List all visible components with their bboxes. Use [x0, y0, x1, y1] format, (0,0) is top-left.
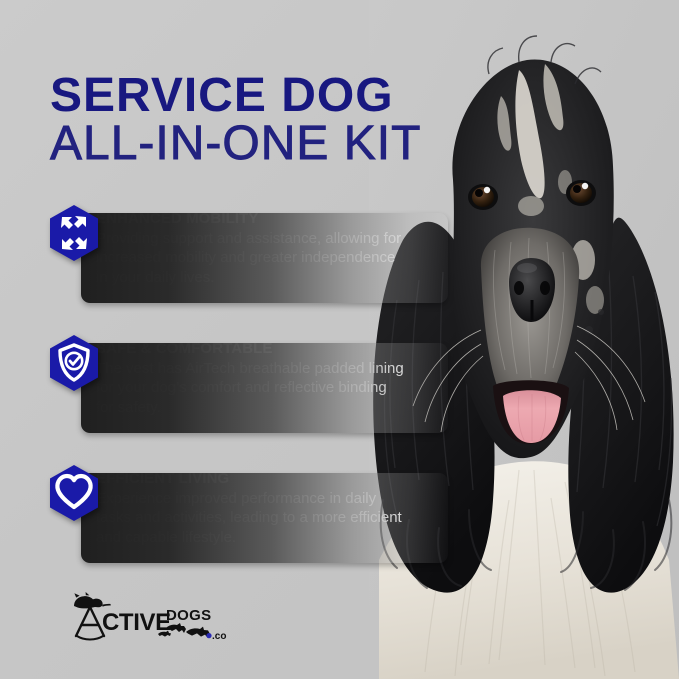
shield-check-icon	[48, 334, 100, 392]
feature-enhanced-mobility: ENHANCED MOBILITY Providing support and …	[48, 204, 448, 308]
letter-a-mark	[76, 607, 104, 639]
logo-word-dogs: DOGS	[166, 607, 211, 624]
title-line-2: ALL-IN-ONE KIT	[50, 119, 421, 169]
expand-arrows-icon	[48, 204, 100, 262]
feature-panel	[81, 473, 448, 563]
dog-eye-right	[566, 180, 596, 206]
activedogs-logo[interactable]: CTIVE DOGS .com	[62, 592, 227, 646]
feature-panel	[81, 343, 448, 433]
promo-image-root: SERVICE DOG ALL-IN-ONE KIT ENHANCED MOBI…	[0, 0, 679, 679]
feature-safe-comfortable: SAFE & COMFORTABLE The vest has AirTech …	[48, 334, 448, 438]
cat-on-letter-a-icon	[74, 592, 111, 608]
logo-word-active: CTIVE	[102, 609, 171, 636]
title-line-1: SERVICE DOG	[50, 72, 421, 119]
feature-panel	[81, 213, 448, 303]
logo-word-com: .com	[212, 631, 227, 642]
dog-eye-left	[468, 184, 498, 210]
page-title: SERVICE DOG ALL-IN-ONE KIT	[50, 72, 421, 169]
feature-efficient-living: EFFICIENT LIVING Experience improved per…	[48, 464, 448, 568]
heart-icon	[48, 464, 100, 522]
